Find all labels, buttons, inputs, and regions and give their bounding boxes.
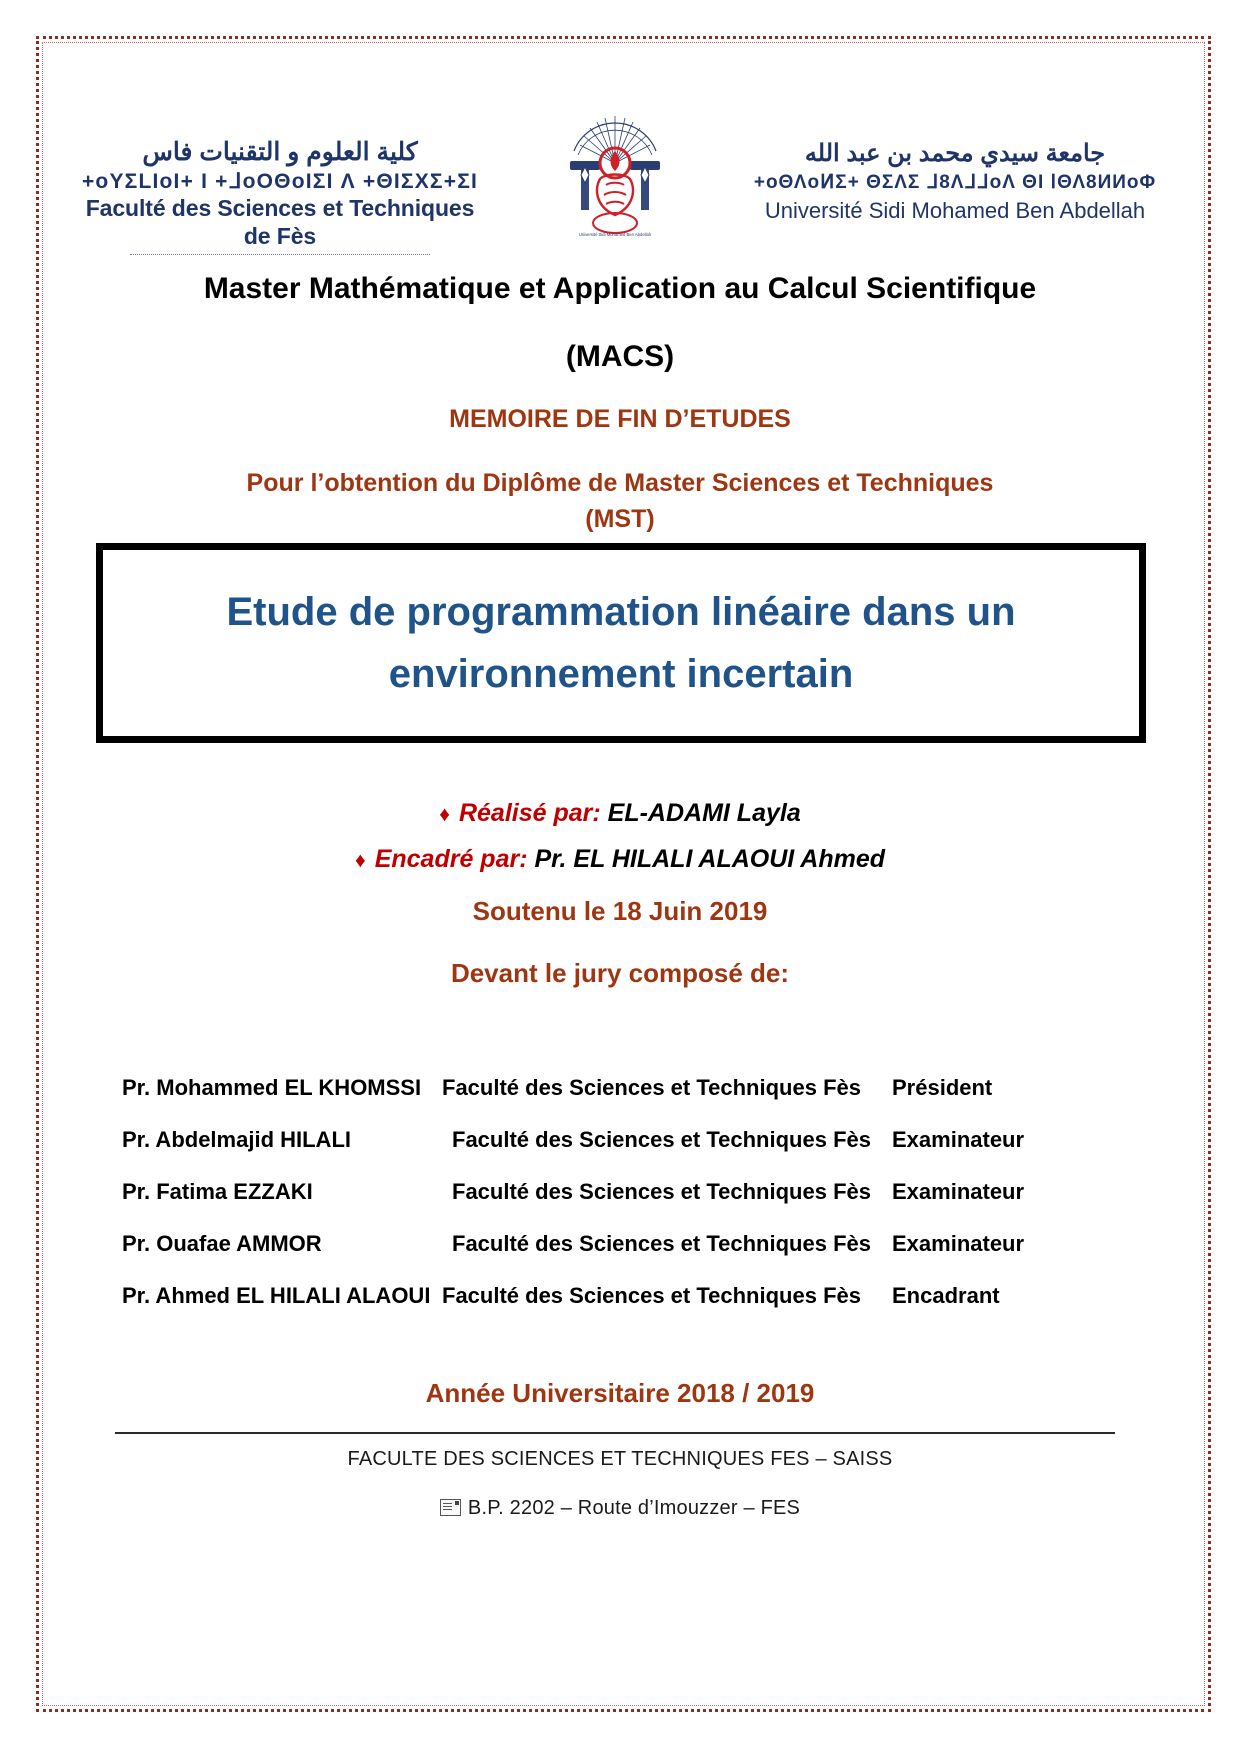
table-row: Pr. Fatima EZZAKI Faculté des Sciences e… xyxy=(122,1179,1102,1231)
thesis-title-line1: Etude de programmation linéaire dans un xyxy=(226,581,1015,643)
diploma-purpose-line1: Pour l’obtention du Diplôme de Master Sc… xyxy=(70,465,1170,501)
jury-member-role: Examinateur xyxy=(892,1179,1102,1205)
footer-address-line: B.P. 2202 – Route d’Imouzzer – FES xyxy=(70,1497,1170,1520)
supervisor-line: ♦Encadré par: Pr. EL HILALI ALAOUI Ahmed xyxy=(70,836,1170,882)
page-title: Etude de programmation linéaire dans un … xyxy=(226,581,1015,705)
supervisor-name: Pr. EL HILALI ALAOUI Ahmed xyxy=(535,845,886,873)
diploma-purpose-block: Pour l’obtention du Diplôme de Master Sc… xyxy=(70,465,1170,538)
svg-text:Université Sidi Mohamed Ben Ab: Université Sidi Mohamed Ben Abdellah xyxy=(579,232,652,237)
faculty-name-french: Faculté des Sciences et Techniques de Fè… xyxy=(70,195,490,250)
mail-icon xyxy=(440,1499,461,1516)
jury-member-role: Encadrant xyxy=(892,1283,1102,1309)
page-content: كلية العلوم و التقنيات فاس +oYΣLIoI+ I +… xyxy=(70,0,1170,1754)
memoire-heading: MEMOIRE DE FIN D’ETUDES xyxy=(70,405,1170,434)
jury-member-role: Président xyxy=(892,1075,1102,1101)
jury-member-affiliation: Faculté des Sciences et Techniques Fès xyxy=(442,1283,892,1309)
author-line: ♦Réalisé par: EL-ADAMI Layla xyxy=(70,790,1170,836)
jury-member-name: Pr. Fatima EZZAKI xyxy=(122,1179,452,1205)
university-name-arabic: جامعة سيدي محمد بن عبد الله xyxy=(740,139,1170,169)
jury-table: Pr. Mohammed EL KHOMSSI Faculté des Scie… xyxy=(122,1075,1102,1335)
university-name-french: Université Sidi Mohamed Ben Abdellah xyxy=(740,197,1170,226)
faculty-underline xyxy=(130,254,430,255)
usmba-university-logo: Université Sidi Mohamed Ben Abdellah xyxy=(560,105,670,245)
jury-member-name: Pr. Ahmed EL HILALI ALAOUI xyxy=(122,1283,442,1309)
program-acronym-line: (MACS) xyxy=(70,340,1170,374)
diamond-bullet-icon: ♦ xyxy=(355,849,366,872)
defense-date: Soutenu le 18 Juin 2019 xyxy=(70,896,1170,927)
table-row: Pr. Mohammed EL KHOMSSI Faculté des Scie… xyxy=(122,1075,1102,1127)
jury-member-affiliation: Faculté des Sciences et Techniques Fès xyxy=(452,1179,892,1205)
jury-member-affiliation: Faculté des Sciences et Techniques Fès xyxy=(452,1231,892,1257)
thesis-title-box-inner: Etude de programmation linéaire dans un … xyxy=(101,548,1141,738)
diploma-purpose-line2: (MST) xyxy=(70,501,1170,537)
jury-member-role: Examinateur xyxy=(892,1127,1102,1153)
supervisor-role-label: Encadré par: xyxy=(375,845,528,873)
faculty-name-tifinagh: +oYΣLIoI+ I +ᒧoOΘoIΣI Λ +ΘIΣXΣ+ΣI xyxy=(70,169,490,194)
jury-member-affiliation: Faculté des Sciences et Techniques Fès xyxy=(442,1075,892,1101)
jury-member-name: Pr. Ouafae AMMOR xyxy=(122,1231,452,1257)
table-row: Pr. Abdelmajid HILALI Faculté des Scienc… xyxy=(122,1127,1102,1179)
document-page: كلية العلوم و التقنيات فاس +oYΣLIoI+ I +… xyxy=(0,0,1241,1754)
faculty-identity-block: كلية العلوم و التقنيات فاس +oYΣLIoI+ I +… xyxy=(70,105,490,255)
university-name-tifinagh: +oΘΛoⵍΣ+ ΘΣΛΣ ᒧ8ΛᒧᒧoΛ ΘI ⵏΘΛ8ИИoΦ xyxy=(740,171,1170,195)
table-row: Pr. Ahmed EL HILALI ALAOUI Faculté des S… xyxy=(122,1283,1102,1335)
jury-member-name: Pr. Mohammed EL KHOMSSI xyxy=(122,1075,442,1101)
page-header: كلية العلوم و التقنيات فاس +oYΣLIoI+ I +… xyxy=(70,105,1170,245)
jury-member-affiliation: Faculté des Sciences et Techniques Fès xyxy=(452,1127,892,1153)
author-name: EL-ADAMI Layla xyxy=(608,799,801,827)
footer-institution: FACULTE DES SCIENCES ET TECHNIQUES FES –… xyxy=(70,1448,1170,1471)
academic-year: Année Universitaire 2018 / 2019 xyxy=(70,1378,1170,1409)
author-role-label: Réalisé par: xyxy=(459,799,601,827)
diamond-bullet-icon: ♦ xyxy=(439,803,450,826)
thesis-title-box: Etude de programmation linéaire dans un … xyxy=(96,543,1146,743)
jury-intro: Devant le jury composé de: xyxy=(70,958,1170,989)
footer-divider xyxy=(115,1432,1115,1434)
people-block: ♦Réalisé par: EL-ADAMI Layla ♦Encadré pa… xyxy=(70,790,1170,883)
footer-address-text: B.P. 2202 – Route d’Imouzzer – FES xyxy=(468,1497,800,1519)
thesis-title-line2: environnement incertain xyxy=(226,643,1015,705)
table-row: Pr. Ouafae AMMOR Faculté des Sciences et… xyxy=(122,1231,1102,1283)
university-identity-block: جامعة سيدي محمد بن عبد الله +oΘΛoⵍΣ+ ΘΣΛ… xyxy=(740,105,1170,225)
program-master-line: Master Mathématique et Application au Ca… xyxy=(70,272,1170,306)
faculty-name-arabic: كلية العلوم و التقنيات فاس xyxy=(70,137,490,168)
jury-member-name: Pr. Abdelmajid HILALI xyxy=(122,1127,452,1153)
jury-member-role: Examinateur xyxy=(892,1231,1102,1257)
